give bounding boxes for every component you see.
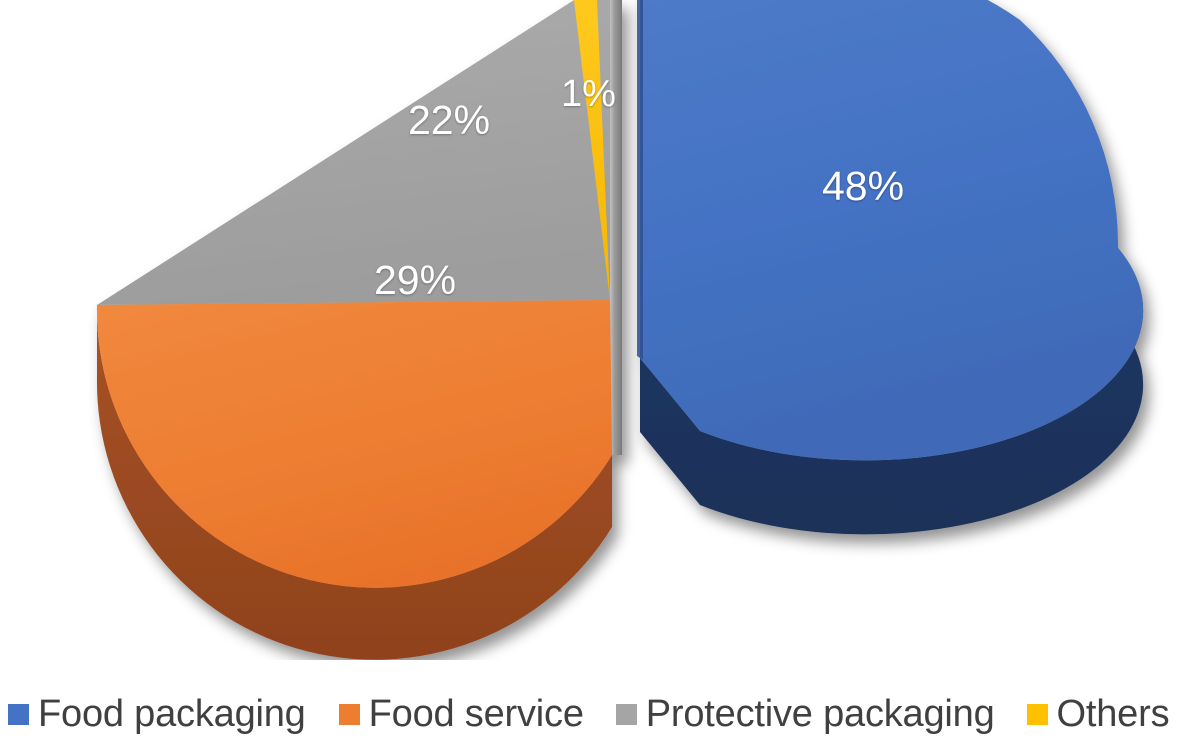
slice-seam-food-packaging <box>637 0 643 360</box>
legend-item-food-service[interactable]: Food service <box>339 688 584 740</box>
slice-top-protective-packaging <box>97 0 610 305</box>
slice-top-food-packaging <box>640 0 1143 460</box>
pie-body-exploded <box>637 0 1143 534</box>
legend-label-food-packaging: Food packaging <box>38 695 306 733</box>
legend-swatch-food-service <box>339 704 360 725</box>
legend-label-protective-packaging: Protective packaging <box>646 695 995 733</box>
legend-item-others[interactable]: Others <box>1027 688 1170 740</box>
legend-label-food-service: Food service <box>369 695 584 733</box>
chart-legend: Food packaging Food service Protective p… <box>0 688 1200 740</box>
legend-swatch-food-packaging <box>8 704 29 725</box>
legend-item-food-packaging[interactable]: Food packaging <box>8 688 306 740</box>
legend-item-protective-packaging[interactable]: Protective packaging <box>616 688 995 740</box>
legend-swatch-others <box>1027 704 1048 725</box>
pie-plot-area: 48% 29% 22% 1% <box>0 0 1200 660</box>
legend-label-others: Others <box>1057 695 1170 733</box>
legend-swatch-protective-packaging <box>616 704 637 725</box>
pie-chart: 48% 29% 22% 1% Food packaging Food servi… <box>0 0 1200 740</box>
pie-body-main <box>97 0 622 660</box>
